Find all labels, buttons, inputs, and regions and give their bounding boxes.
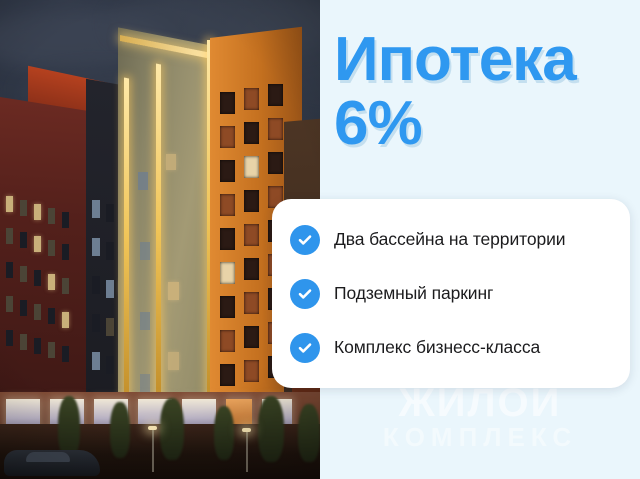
window [62, 278, 69, 294]
window [92, 200, 100, 218]
window [106, 280, 114, 298]
window [244, 88, 259, 110]
window [106, 318, 114, 336]
feature-label: Комплекс бизнесс-класса [334, 337, 540, 358]
headline-line-1: Ипотека [334, 25, 576, 94]
window [48, 342, 55, 358]
check-circle-icon [290, 279, 320, 309]
page-title: Ипотека 6% [334, 30, 640, 154]
window [220, 364, 235, 386]
window [168, 352, 179, 370]
watermark: ЖИЛОЙ КОМПЛЕКС [330, 382, 630, 451]
window [268, 152, 283, 174]
tree [160, 398, 184, 460]
window [220, 296, 235, 318]
window [6, 296, 13, 312]
window [106, 242, 114, 260]
features-card: Два бассейна на территории Подземный пар… [272, 199, 630, 388]
tree [298, 404, 320, 462]
feature-label: Подземный паркинг [334, 283, 493, 304]
facade-light-strip [156, 64, 161, 437]
check-circle-icon [290, 333, 320, 363]
check-circle-icon [290, 225, 320, 255]
window [244, 258, 259, 280]
window [48, 208, 55, 224]
window [92, 314, 100, 332]
window [244, 122, 259, 144]
window [138, 172, 148, 190]
window [62, 346, 69, 362]
window [20, 300, 27, 316]
window [220, 194, 235, 216]
window [220, 330, 235, 352]
window [6, 330, 13, 346]
window [48, 274, 55, 290]
headline-line-2: 6% [334, 94, 640, 154]
window [34, 338, 41, 354]
tree [58, 396, 80, 458]
window [62, 212, 69, 228]
window [92, 238, 100, 256]
window [220, 92, 235, 114]
window [244, 360, 259, 382]
window [166, 154, 176, 170]
window [92, 352, 100, 370]
window [106, 356, 114, 374]
list-item: Комплекс бизнесс-класса [290, 324, 616, 371]
window [92, 276, 100, 294]
window [220, 262, 235, 284]
street-lamp-pole [152, 428, 154, 472]
tower-facade-left [118, 27, 214, 446]
street-lamp-light [242, 428, 251, 432]
street-lamp-light [148, 426, 157, 430]
window [20, 266, 27, 282]
window [268, 84, 283, 106]
window [34, 204, 41, 220]
window [20, 334, 27, 350]
list-item: Два бассейна на территории [290, 216, 616, 263]
feature-label: Два бассейна на территории [334, 229, 565, 250]
window [62, 244, 69, 260]
window [140, 242, 150, 260]
promo-banner: ЖИЛОЙ КОМПЛЕКС Ипотека 6% Два бассейна н… [0, 0, 640, 479]
window [140, 374, 150, 392]
window [20, 232, 27, 248]
window [62, 312, 69, 328]
window [244, 190, 259, 212]
window [244, 224, 259, 246]
window [244, 292, 259, 314]
window [34, 304, 41, 320]
window [34, 270, 41, 286]
window [6, 196, 13, 212]
tree [110, 402, 130, 458]
window [6, 228, 13, 244]
window [48, 308, 55, 324]
car-windshield [26, 452, 70, 462]
window [220, 160, 235, 182]
window [244, 156, 259, 178]
window [106, 204, 114, 222]
watermark-line-2: КОМПЛЕКС [330, 424, 630, 451]
tree [258, 396, 284, 462]
list-item: Подземный паркинг [290, 270, 616, 317]
window [268, 118, 283, 140]
window [220, 228, 235, 250]
window [6, 262, 13, 278]
window [20, 200, 27, 216]
window [244, 326, 259, 348]
facade-light-strip [124, 78, 129, 439]
window [34, 236, 41, 252]
window [220, 126, 235, 148]
window [168, 282, 179, 300]
street-lamp-pole [246, 430, 248, 472]
window [140, 312, 150, 330]
window [48, 240, 55, 256]
tree [214, 406, 234, 460]
